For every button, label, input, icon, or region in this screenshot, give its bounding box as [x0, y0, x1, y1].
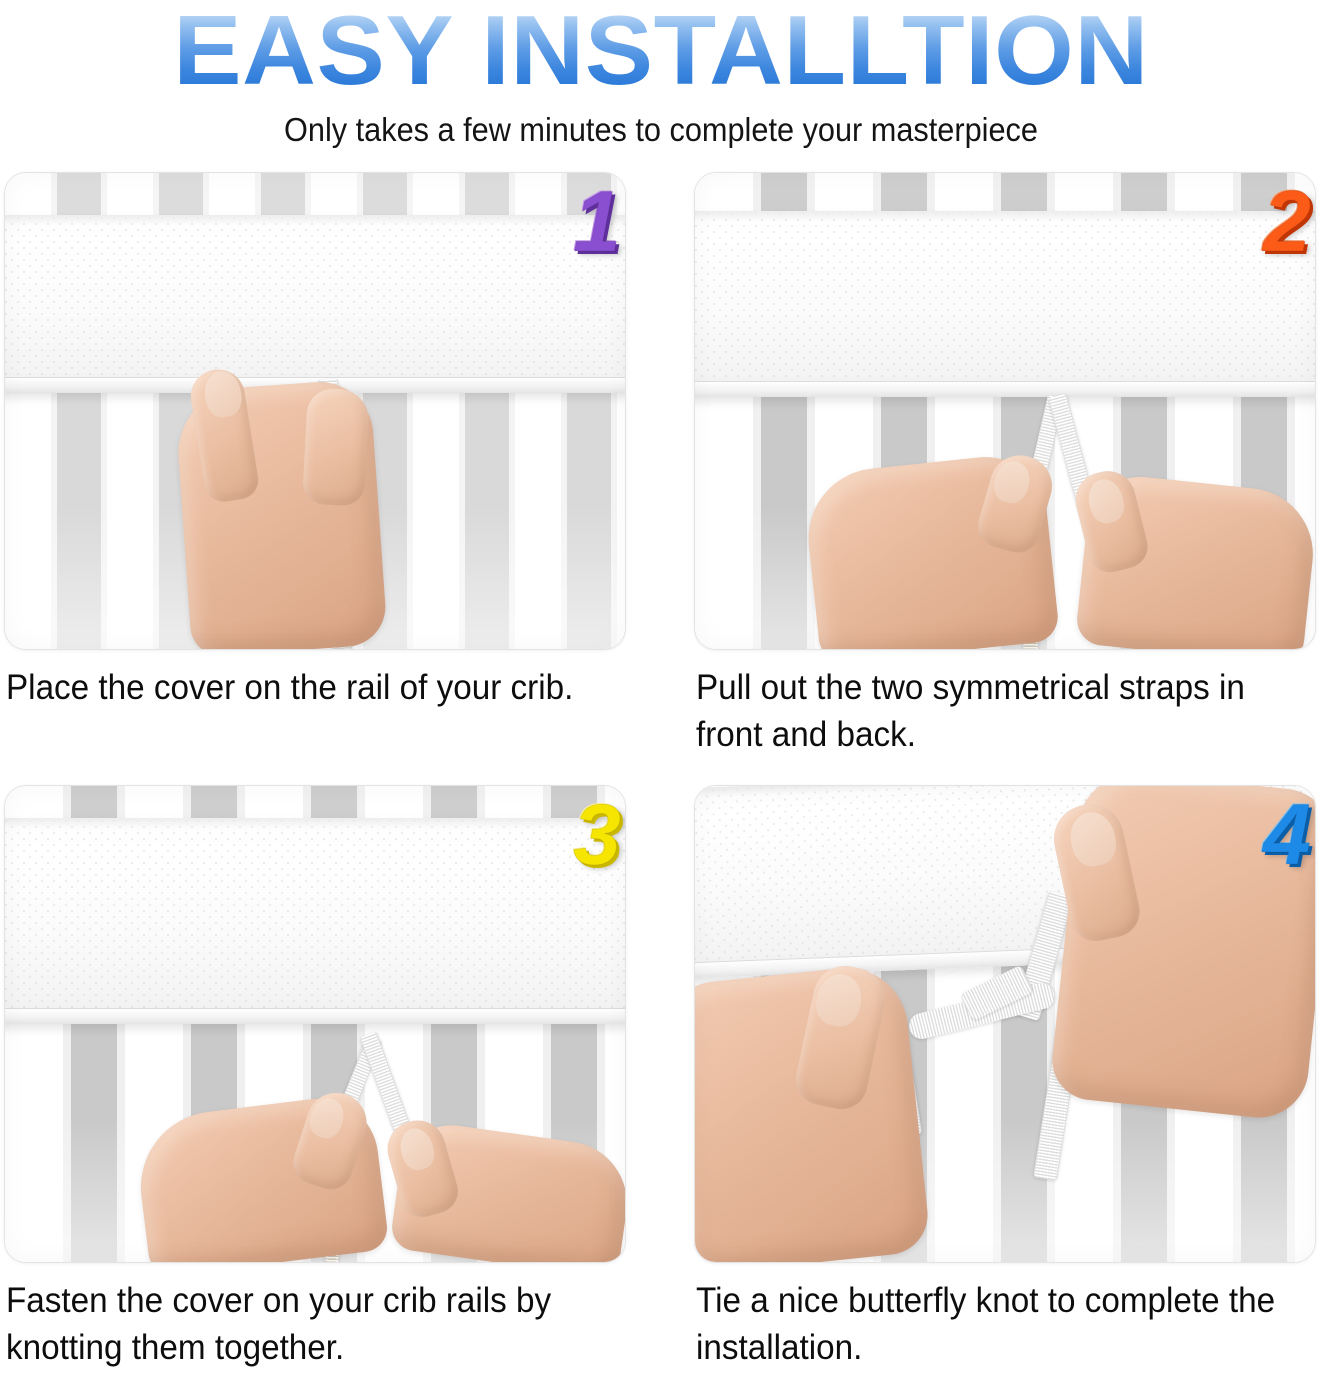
step-card-2: 2 Pull out the two symmetrical straps in… — [694, 172, 1316, 650]
rail-cover — [694, 211, 1316, 397]
step-caption-2: Pull out the two symmetrical straps in f… — [696, 664, 1285, 758]
step-caption-3: Fasten the cover on your crib rails by k… — [6, 1277, 595, 1371]
rail-hem — [694, 381, 1316, 397]
index-finger — [302, 387, 370, 506]
step-number-badge-4: 4 — [1263, 792, 1311, 878]
step-card-4: 4 Tie a nice butterfly knot to complete … — [694, 785, 1316, 1263]
step-card-3: 3 Fasten the cover on your crib rails by… — [4, 785, 626, 1263]
step-card-1: 1 Place the cover on the rail of your cr… — [4, 172, 626, 650]
mesh-fabric-texture — [4, 818, 626, 1024]
mesh-fabric-texture — [694, 211, 1316, 397]
step-photo-4: 4 — [694, 785, 1316, 1263]
rail-cover — [4, 215, 626, 393]
step-photo-1: 1 — [4, 172, 626, 650]
infographic-page: EASY INSTALLTION Only takes a few minute… — [0, 0, 1322, 1378]
step-caption-4: Tie a nice butterfly knot to complete th… — [696, 1277, 1285, 1371]
page-subtitle: Only takes a few minutes to complete you… — [46, 108, 1275, 152]
step-number-badge-2: 2 — [1263, 179, 1311, 265]
step-number-badge-3: 3 — [573, 792, 621, 878]
step-number-badge-1: 1 — [573, 179, 621, 265]
page-title: EASY INSTALLTION — [0, 0, 1322, 104]
rail-top-edge — [694, 211, 1316, 221]
rail-cover — [4, 818, 626, 1024]
rail-top-edge — [4, 818, 626, 828]
step-photo-3: 3 — [4, 785, 626, 1263]
steps-grid: 1 Place the cover on the rail of your cr… — [0, 172, 1322, 1378]
rail-hem — [4, 1008, 626, 1024]
rail-top-edge — [4, 215, 626, 225]
step-caption-1: Place the cover on the rail of your crib… — [6, 664, 595, 711]
header: EASY INSTALLTION Only takes a few minute… — [0, 0, 1322, 168]
mesh-fabric-texture — [4, 215, 626, 393]
step-photo-2: 2 — [694, 172, 1316, 650]
